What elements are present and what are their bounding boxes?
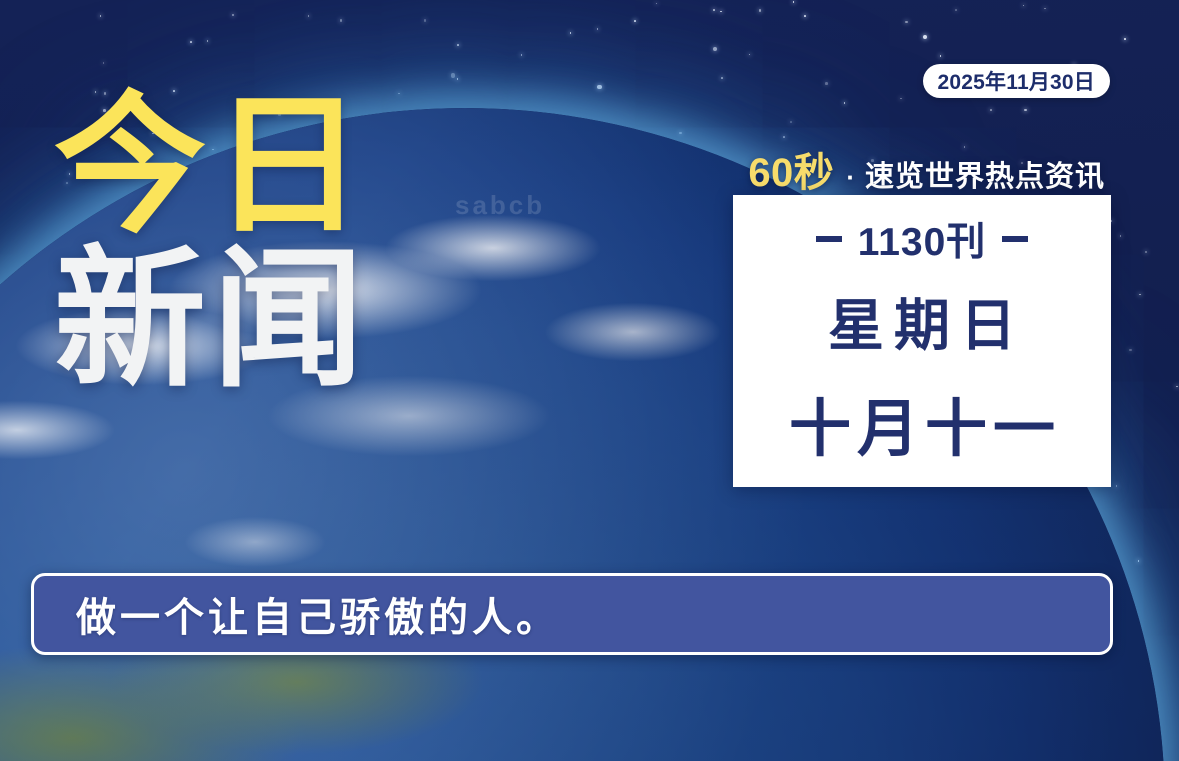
news-poster: sabcb 今日 新闻 2025年11月30日 60秒 · 速览世界热点资讯 1… (0, 0, 1179, 761)
lunar-date-label: 十月十一 (783, 378, 1061, 468)
dash-left-icon (816, 236, 842, 242)
slogan-text: 速览世界热点资讯 (865, 153, 1105, 195)
issue-info-card: 1130刊 星期日 十月十一 (733, 195, 1111, 487)
page-title: 今日 新闻 (54, 96, 370, 390)
slogan-seconds: 60秒 (748, 140, 834, 198)
quote-text: 做一个让自己骄傲的人。 (76, 585, 560, 643)
quote-banner: 做一个让自己骄傲的人。 (31, 573, 1113, 655)
issue-number: 1130刊 (858, 211, 987, 267)
weekday-label: 星期日 (818, 281, 1026, 362)
dash-right-icon (1002, 236, 1028, 242)
title-line-1: 今日 (54, 96, 370, 236)
issue-row: 1130刊 (816, 211, 1029, 267)
slogan-line: 60秒 · 速览世界热点资讯 (748, 140, 1105, 198)
title-line-2: 新闻 (54, 250, 370, 390)
slogan-separator: · (846, 162, 855, 193)
watermark-text: sabcb (455, 190, 545, 221)
date-badge: 2025年11月30日 (923, 64, 1110, 98)
